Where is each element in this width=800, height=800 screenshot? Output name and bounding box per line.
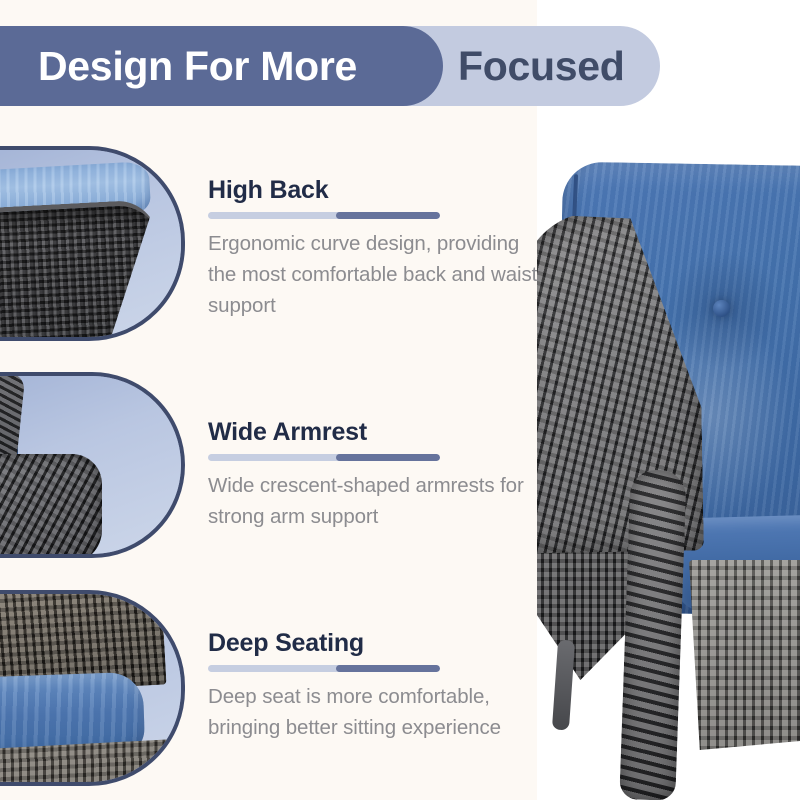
banner-headline-rest: Focused xyxy=(458,26,625,106)
feature-thumbnail-high-back xyxy=(0,146,185,341)
thumb-armrest-crescent xyxy=(0,454,102,554)
chair-arm-front-post xyxy=(619,469,686,800)
feature-title: Wide Armrest xyxy=(208,417,548,447)
feature-description: Deep seat is more comfortable, bringing … xyxy=(208,681,548,743)
feature-description: Ergonomic curve design, providing the mo… xyxy=(208,228,548,321)
feature-title: High Back xyxy=(208,175,548,205)
chair-tuft-button xyxy=(713,300,730,317)
feature-thumbnail-deep-seating xyxy=(0,590,185,786)
feature-divider xyxy=(208,665,440,672)
banner-headline-highlight: Design For More xyxy=(38,26,357,106)
product-chair-image xyxy=(537,0,800,800)
feature-text-wide-armrest: Wide Armrest Wide crescent-shaped armres… xyxy=(208,417,548,532)
feature-divider xyxy=(208,212,440,219)
infographic-root: Design For More Focused xyxy=(0,0,800,800)
feature-thumbnail-wide-armrest xyxy=(0,372,185,558)
feature-text-high-back: High Back Ergonomic curve design, provid… xyxy=(208,175,548,321)
chair-rear-leg xyxy=(552,640,575,731)
feature-title: Deep Seating xyxy=(208,628,548,658)
feature-text-deep-seating: Deep Seating Deep seat is more comfortab… xyxy=(208,628,548,743)
main-product-photo-panel xyxy=(537,0,800,800)
header-banner: Design For More Focused xyxy=(0,26,660,106)
feature-divider xyxy=(208,454,440,461)
feature-description: Wide crescent-shaped armrests for strong… xyxy=(208,470,548,532)
chair-wicker-base xyxy=(689,560,800,750)
